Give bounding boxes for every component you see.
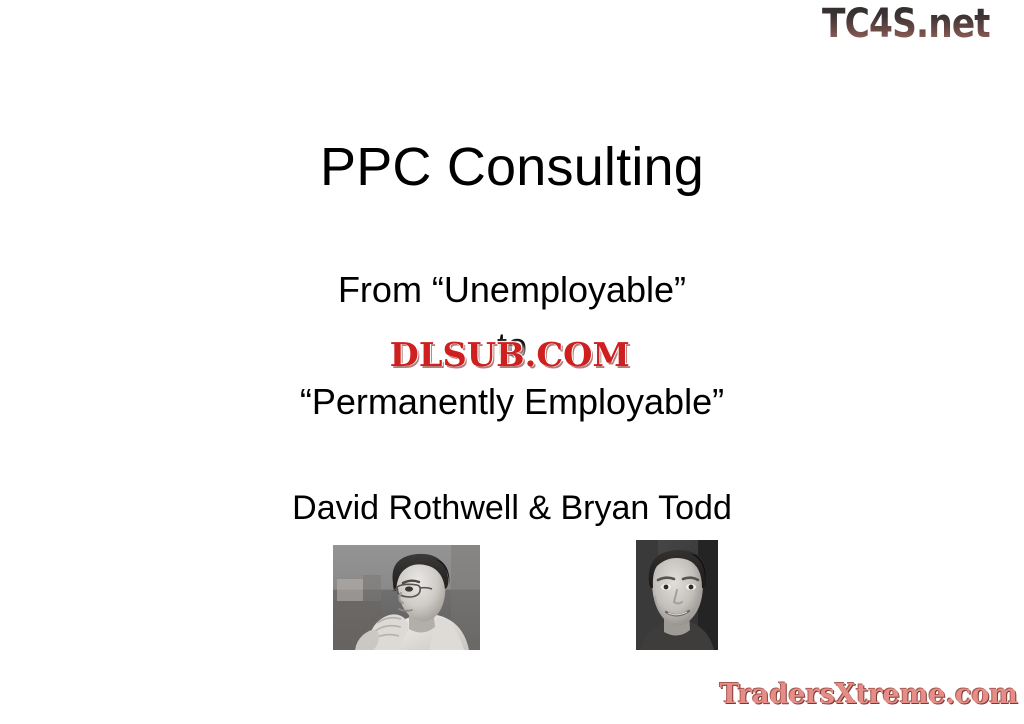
watermark-dlsub: DLSUB.COM	[360, 334, 660, 378]
subtitle-line-1: From “Unemployable”	[0, 262, 1024, 318]
watermark-dlsub-text: DLSUB.COM	[390, 334, 630, 376]
author-line: David Rothwell & Bryan Todd	[0, 489, 1024, 528]
subtitle-line-3: “Permanently Employable”	[0, 374, 1024, 430]
presentation-slide: PPC Consulting From “Unemployable” to “P…	[0, 0, 1024, 724]
watermark-tradersxtreme-text: TradersXtreme.com	[720, 678, 1018, 712]
watermark-tc4s: TC4S.net	[822, 0, 1022, 50]
portrait-photo-left-image	[333, 545, 480, 650]
portrait-photo-right	[636, 540, 718, 650]
watermark-tc4s-text: TC4S.net	[822, 0, 990, 48]
page-title: PPC Consulting	[0, 138, 1024, 197]
portrait-photo-left	[333, 545, 480, 650]
watermark-tradersxtreme: TradersXtreme.com	[718, 678, 1018, 716]
portrait-photo-right-image	[636, 540, 718, 650]
